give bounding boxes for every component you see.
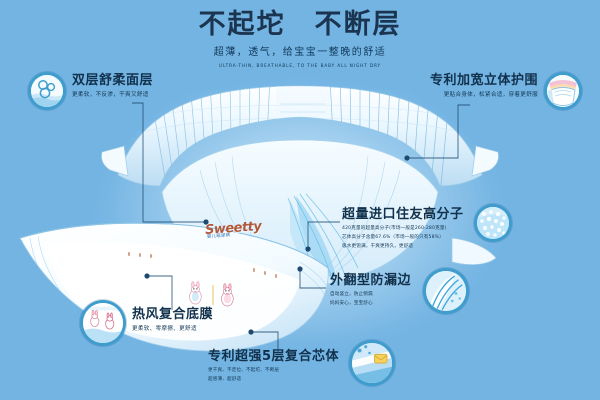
callout-leak-guard[interactable]: 外翻型防漏边 自动竖立，防止侧漏 妈妈安心，宝宝舒心 bbox=[326, 272, 469, 314]
callout-line: 更柔软，不反渗，干爽又舒适 bbox=[72, 91, 153, 99]
callout-line: 更干爽、不走位、不起坨、不断层 bbox=[208, 367, 339, 374]
callout-line: 芯体高分子含量67.6%（市场一般的只有58%） bbox=[342, 234, 464, 241]
five-layer-core-icon bbox=[349, 340, 395, 386]
callout-title: 外翻型防漏边 bbox=[330, 272, 411, 289]
callout-sumitomo-polymer[interactable]: 超量进口住友高分子 420克量的超量高分子(市场一般是260-280克量) 芯体… bbox=[338, 206, 512, 250]
leak-guard-icon bbox=[423, 268, 469, 314]
poster-header: 不起坨 不断层 超薄，透气，给宝宝一整晚的舒适 ULTRA-THIN, BREA… bbox=[0, 8, 600, 69]
callout-wide-3d-guard[interactable]: 专利加宽立体护围 更贴合身体，松紧合适，穿着更舒服 bbox=[424, 72, 582, 110]
callout-hot-air-bottom-film[interactable]: 热风复合底膜 更柔软、零摩擦、更舒适 bbox=[80, 300, 219, 346]
callout-double-layer-surface[interactable]: 双层舒柔面层 更柔软，不反渗，干爽又舒适 bbox=[28, 72, 159, 110]
callout-line: 420克量的超量高分子(市场一般是260-280克量) bbox=[342, 225, 464, 232]
subtitle-english: ULTRA-THIN, BREATHABLE, TO THE BABY ALL … bbox=[0, 62, 600, 69]
callout-text: 热风复合底膜 更柔软、零摩擦、更舒适 bbox=[126, 300, 219, 333]
diaper-cuff-icon bbox=[544, 72, 582, 110]
page-title: 不起坨 不断层 bbox=[0, 8, 600, 42]
back-film-icon bbox=[80, 300, 126, 346]
callout-title: 超量进口住友高分子 bbox=[342, 206, 464, 223]
callout-title: 专利加宽立体护围 bbox=[430, 72, 538, 89]
callout-title: 热风复合底膜 bbox=[132, 306, 213, 323]
callout-line: 更柔软、零摩擦、更舒适 bbox=[132, 325, 213, 333]
product-feature-poster: Sweetty 婴儿纸尿裤 不起坨 不断层 超薄，透气 bbox=[0, 0, 600, 400]
callout-text: 超量进口住友高分子 420克量的超量高分子(市场一般是260-280克量) 芯体… bbox=[338, 206, 470, 250]
bubbles-icon bbox=[28, 72, 66, 110]
callout-title: 专利超强5层复合芯体 bbox=[208, 348, 339, 365]
callout-text: 外翻型防漏边 自动竖立，防止侧漏 妈妈安心，宝宝舒心 bbox=[326, 272, 417, 307]
callout-line: 妈妈安心，宝宝舒心 bbox=[330, 300, 411, 307]
callout-text: 双层舒柔面层 更柔软，不反渗，干爽又舒适 bbox=[66, 72, 159, 99]
callout-line: 超感薄、超舒适 bbox=[208, 376, 339, 383]
callout-title: 双层舒柔面层 bbox=[72, 72, 153, 89]
callout-line: 吸水更饱满，干爽更持久，更舒适 bbox=[342, 243, 464, 250]
callout-line: 更贴合身体，松紧合适，穿着更舒服 bbox=[430, 91, 538, 99]
subtitle-chinese: 超薄，透气，给宝宝一整晚的舒适 bbox=[0, 46, 600, 59]
callout-five-layer-core[interactable]: 专利超强5层复合芯体 更干爽、不走位、不起坨、不断层 超感薄、超舒适 bbox=[208, 348, 395, 386]
polymer-dots-icon bbox=[474, 204, 512, 242]
callout-text: 专利加宽立体护围 更贴合身体，松紧合适，穿着更舒服 bbox=[424, 72, 544, 99]
callout-line: 自动竖立，防止侧漏 bbox=[330, 291, 411, 298]
callout-text: 专利超强5层复合芯体 更干爽、不走位、不起坨、不断层 超感薄、超舒适 bbox=[208, 348, 345, 383]
